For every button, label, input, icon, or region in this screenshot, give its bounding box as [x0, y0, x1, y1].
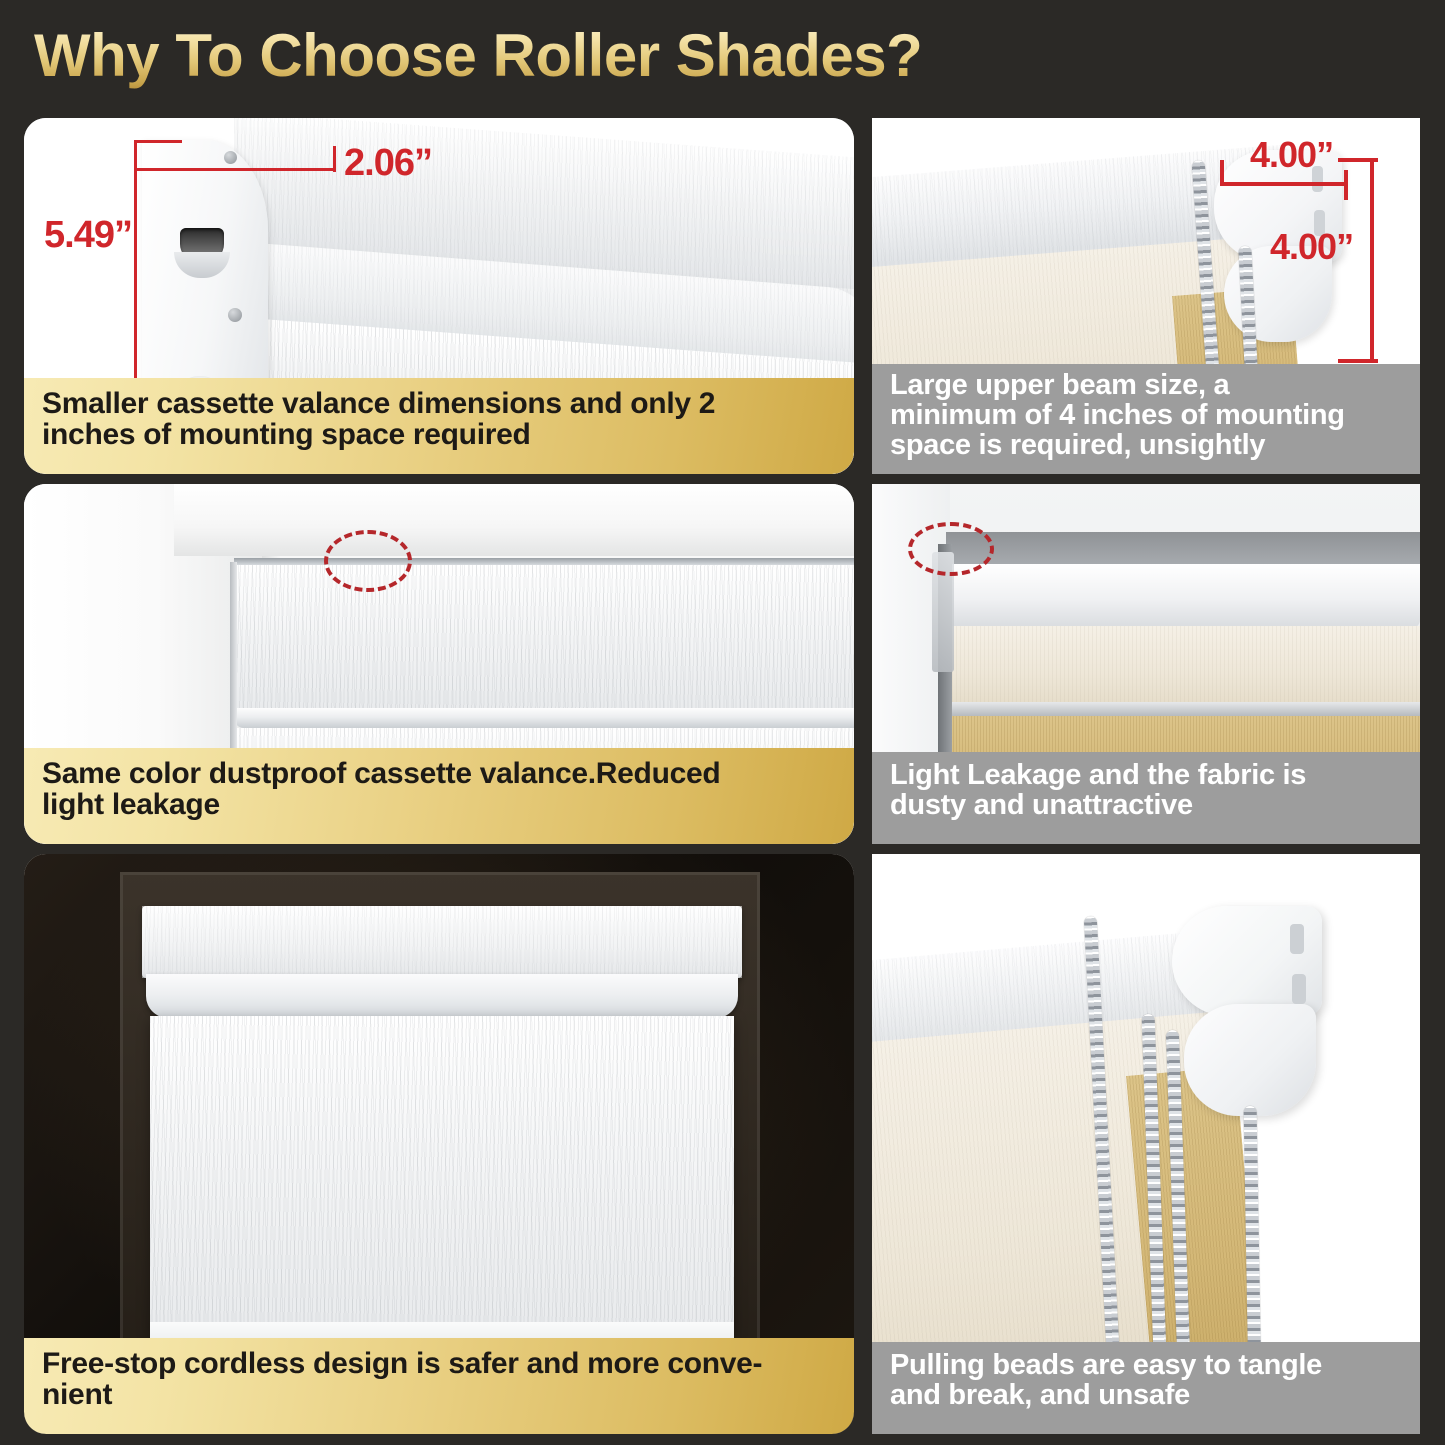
caption-line: light leakage	[42, 789, 838, 820]
caption-line: and break, and unsafe	[890, 1380, 1404, 1410]
panel-caption-light-leakage: Light Leakage and the fabric is dusty an…	[872, 752, 1420, 844]
panel-light-leakage: Large gap Light Leakage and the fabric i…	[872, 484, 1420, 844]
panel-caption-dustproof-valance: Same color dustproof cassette valance.Re…	[24, 748, 854, 844]
comparison-grid: 5.49” 2.06” Smaller cassette valance dim…	[0, 110, 1445, 1445]
caption-line: Same color dustproof cassette valance.Re…	[42, 758, 838, 789]
width-dimension-tick-right	[1344, 170, 1348, 200]
width-dimension-label: 2.06”	[344, 142, 432, 185]
panel-caption-cassette-dimensions: Smaller cassette valance dimensions and …	[24, 378, 854, 474]
width-dimension-line	[1220, 182, 1348, 186]
caption-line: inches of mounting space required	[42, 419, 838, 450]
height-dimension-label-vertical: 4.00”	[1270, 226, 1353, 268]
width-dimension-tick-right	[333, 146, 336, 172]
panel-cordless-design: Free-stop cordless design is safer and m…	[24, 854, 854, 1434]
page-title: Why To Choose Roller Shades?	[34, 21, 922, 90]
caption-line: minimum of 4 inches of mounting	[890, 400, 1404, 430]
height-dimension-line	[1370, 158, 1374, 363]
height-dimension-label: 5.49”	[44, 214, 132, 257]
caption-line: Smaller cassette valance dimensions and …	[42, 388, 838, 419]
panel-caption-pulling-beads: Pulling beads are easy to tangle and bre…	[872, 1342, 1420, 1434]
caption-line: Pulling beads are easy to tangle	[890, 1350, 1404, 1380]
height-dimension-tick-top	[1338, 158, 1378, 162]
caption-line: Large upper beam size, a	[890, 370, 1404, 400]
panel-caption-cordless-design: Free-stop cordless design is safer and m…	[24, 1338, 854, 1434]
detail-highlight-ellipse	[908, 522, 994, 576]
header: Why To Choose Roller Shades?	[0, 0, 1445, 110]
panel-cassette-dimensions: 5.49” 2.06” Smaller cassette valance dim…	[24, 118, 854, 474]
caption-line: dusty and unattractive	[890, 790, 1404, 820]
caption-line: Light Leakage and the fabric is	[890, 760, 1404, 790]
panel-dustproof-valance: smaller gap Same color dustproof cassett…	[24, 484, 854, 844]
panel-large-upper-beam: 4.00” 4.00” Large upper beam size, a min…	[872, 118, 1420, 474]
width-dimension-label-horizontal: 4.00”	[1250, 134, 1333, 176]
caption-line: Free-stop cordless design is safer and m…	[42, 1348, 838, 1379]
detail-highlight-ellipse	[324, 530, 412, 592]
caption-line: nient	[42, 1379, 838, 1410]
panel-pulling-beads: Pulling beads are easy to tangle and bre…	[872, 854, 1420, 1434]
caption-line: space is required, unsightly	[890, 430, 1404, 460]
panel-caption-large-upper-beam: Large upper beam size, a minimum of 4 in…	[872, 364, 1420, 474]
width-dimension-line	[136, 168, 336, 171]
height-dimension-tick-bottom	[1338, 359, 1378, 363]
width-dimension-tick-left	[1220, 160, 1224, 186]
height-dimension-tick-top	[134, 140, 182, 143]
